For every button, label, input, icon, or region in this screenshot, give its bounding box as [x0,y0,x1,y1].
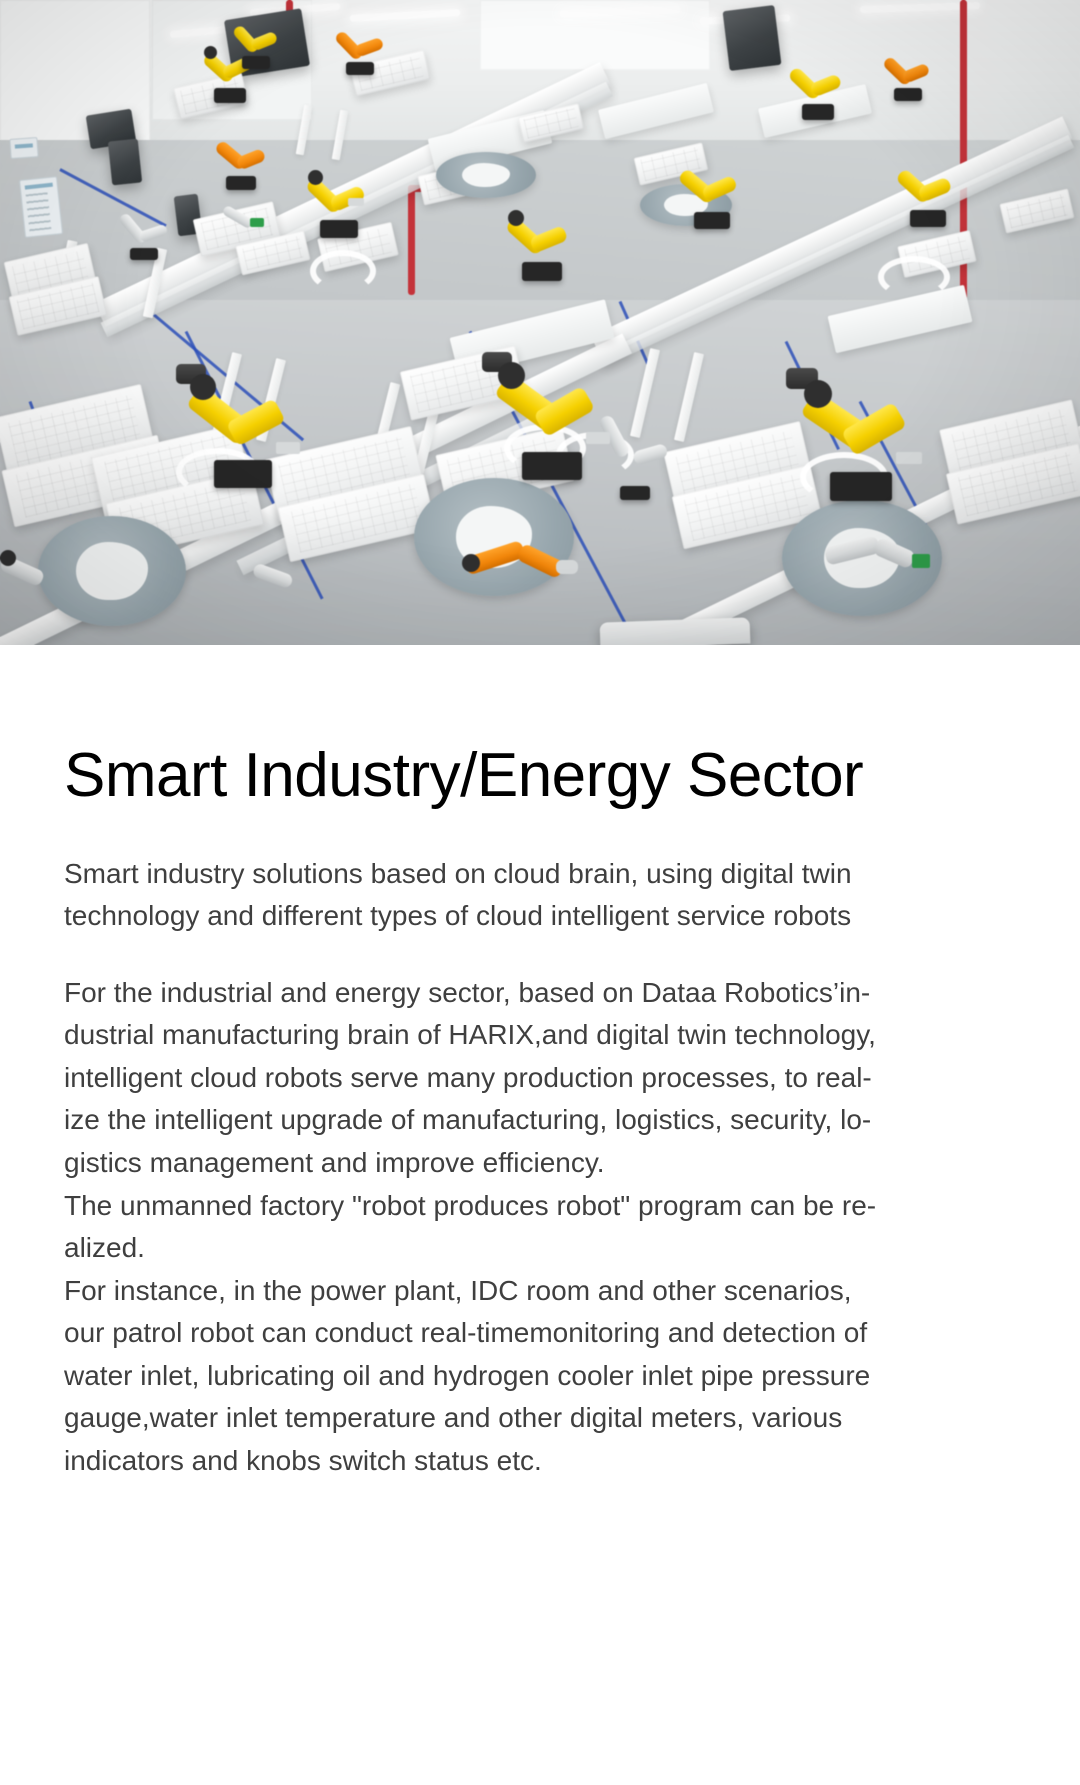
robot-arm [332,22,396,84]
body-line: dustrial manufacturing brain of HARIX,an… [64,1014,894,1057]
robot-arm [880,48,944,112]
cobot-arm [0,540,90,630]
robot-station-halo [878,256,950,298]
factory-scene [0,0,1080,645]
robot-arm [786,368,930,528]
robot-arm [300,168,376,250]
cobot-arm [456,528,586,638]
article-body: For the industrial and energy sector, ba… [64,938,894,1483]
body-line: ize the intelligent upgrade of manufactu… [64,1099,894,1142]
robot-arm [498,206,582,292]
hero-image [0,0,1080,645]
cobot-arm [216,196,286,266]
page-root: Smart Industry/Energy Sector Smart indus… [0,0,1080,1785]
robot-arm [210,132,280,202]
turntable-disc [436,152,536,198]
robot-station-halo [310,250,376,292]
cobot-arm [820,530,940,630]
article-content: Smart Industry/Energy Sector Smart indus… [0,645,1080,1482]
machine-enclosure [600,617,751,645]
body-line: For the industrial and energy sector, ba… [64,972,894,1015]
robot-arm [784,58,854,132]
article-lead-paragraph: Smart industry solutions based on cloud … [64,809,884,938]
robot-arm [890,160,966,240]
robot-arm [230,18,290,76]
body-line: our patrol robot can conduct real-timemo… [64,1312,894,1355]
red-pipe [408,185,415,295]
body-line: For instance, in the power plant, IDC ro… [64,1270,894,1313]
body-line: water inlet, lubricating oil and hydroge… [64,1355,894,1398]
wall-notice-sign [9,137,38,159]
body-line: alized. [64,1227,894,1270]
robot-arm [672,160,750,242]
body-line: gistics management and improve efficienc… [64,1142,894,1185]
robot-arm [176,364,306,514]
body-line: intelligent cloud robots serve many prod… [64,1057,894,1100]
cobot-arm [114,200,180,276]
cobot-arm [250,548,340,628]
robot-arm [482,352,618,508]
body-line: indicators and knobs switch status etc. [64,1440,894,1483]
wall-notice-sign [19,176,63,238]
machine-enclosure [723,5,782,71]
body-line: gauge,water inlet temperature and other … [64,1397,894,1440]
body-line: The unmanned factory "robot produces rob… [64,1185,894,1228]
machine-enclosure [108,139,142,186]
page-title: Smart Industry/Energy Sector [64,645,1016,809]
